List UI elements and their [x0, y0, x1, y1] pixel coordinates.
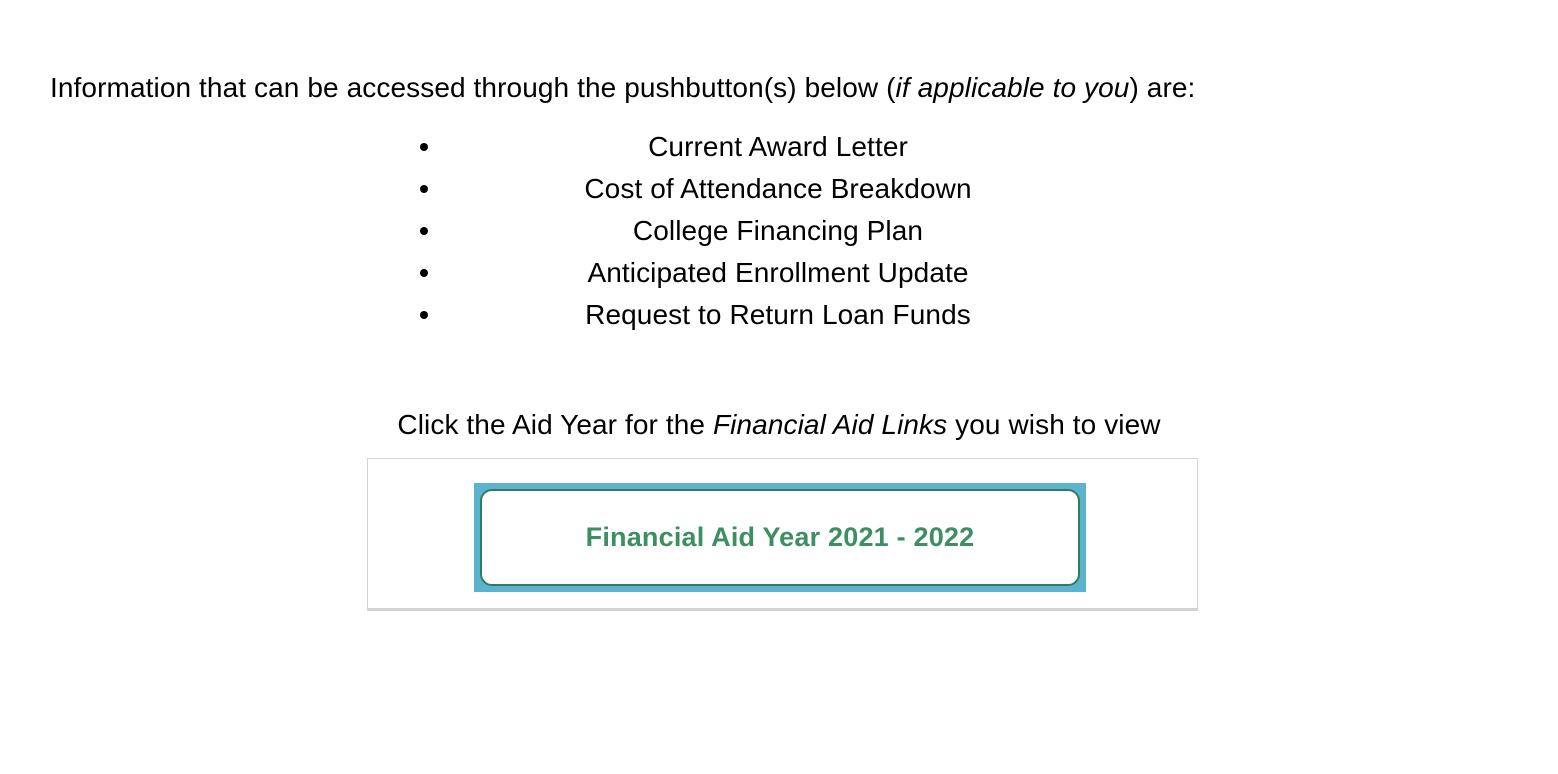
financial-aid-links-page: Information that can be accessed through… — [0, 0, 1558, 774]
bullet-point-icon — [420, 143, 428, 151]
list-item-label: College Financing Plan — [633, 210, 923, 252]
list-item: College Financing Plan — [0, 210, 1558, 252]
instruction-text: Click the Aid Year for the Financial Aid… — [0, 406, 1558, 444]
aid-year-button-panel: Financial Aid Year 2021 - 2022 — [367, 458, 1198, 611]
list-item: Cost of Attendance Breakdown — [0, 168, 1558, 210]
bullet-point-icon — [420, 185, 428, 193]
list-item: Anticipated Enrollment Update — [0, 252, 1558, 294]
intro-text-trailing: ) are: — [1129, 72, 1195, 103]
aid-year-button-focus-ring: Financial Aid Year 2021 - 2022 — [474, 483, 1086, 592]
bullet-point-icon — [420, 311, 428, 319]
list-item: Current Award Letter — [0, 126, 1558, 168]
intro-paragraph: Information that can be accessed through… — [50, 68, 1520, 108]
list-item-label: Current Award Letter — [648, 126, 908, 168]
bullet-point-icon — [420, 227, 428, 235]
instruction-text-trailing: you wish to view — [947, 409, 1160, 440]
instruction-text-emphasis: Financial Aid Links — [713, 409, 947, 440]
accessible-information-list: Current Award Letter Cost of Attendance … — [0, 126, 1558, 336]
list-item-label: Request to Return Loan Funds — [585, 294, 971, 336]
list-item-label: Cost of Attendance Breakdown — [584, 168, 971, 210]
instruction-text-leading: Click the Aid Year for the — [397, 409, 713, 440]
intro-text-leading: Information that can be accessed through… — [50, 72, 896, 103]
list-item-label: Anticipated Enrollment Update — [587, 252, 968, 294]
aid-year-2021-2022-button[interactable]: Financial Aid Year 2021 - 2022 — [480, 489, 1080, 586]
intro-text-emphasis: if applicable to you — [896, 72, 1130, 103]
list-item: Request to Return Loan Funds — [0, 294, 1558, 336]
bullet-point-icon — [420, 269, 428, 277]
